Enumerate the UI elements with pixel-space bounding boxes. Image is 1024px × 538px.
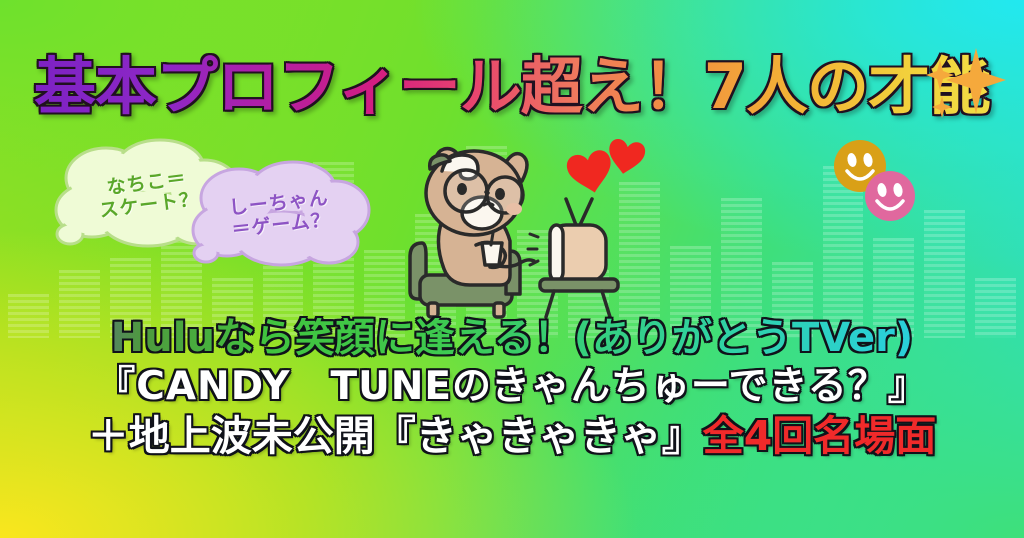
heart-icon xyxy=(565,138,647,197)
speech-bubble-shichan: しーちゃん ＝ゲーム？ xyxy=(185,160,375,268)
copy-line-3-red: 全4回名場面 xyxy=(703,412,937,460)
copy-line-3: ＋地上波未公開『きゃきゃきゃ』全4回名場面 xyxy=(0,416,1024,458)
retro-tv-icon xyxy=(528,199,618,317)
thumbnail-canvas: 基本プロフィール超え！7人の才能 xyxy=(0,0,1024,538)
smiley-face-pink xyxy=(864,170,916,222)
page-title: 基本プロフィール超え！7人の才能 xyxy=(34,36,990,126)
copy-block: Huluなら笑顔に逢える！(ありがとうTVer) 『CANDY TUNEのきゃん… xyxy=(0,318,1024,457)
copy-line-1: Huluなら笑顔に逢える！(ありがとうTVer) xyxy=(0,318,1024,359)
cat-watching-tv-illustration xyxy=(390,125,660,325)
copy-line-3-white: ＋地上波未公開『きゃきゃきゃ』 xyxy=(88,412,703,460)
title-container: 基本プロフィール超え！7人の才能 xyxy=(0,40,1024,122)
copy-line-2: 『CANDY TUNEのきゃんちゅーできる？』 xyxy=(0,367,1024,407)
